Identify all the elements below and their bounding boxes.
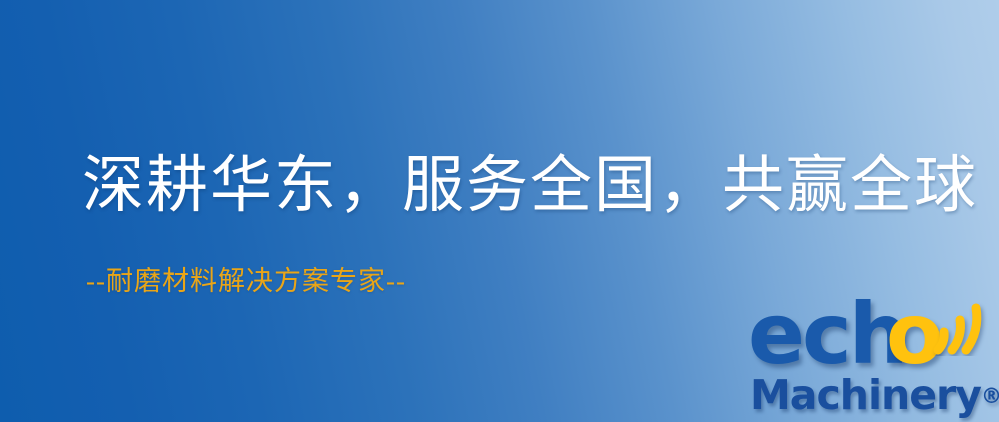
promotional-banner: 深耕华东，服务全国，共赢全球 --耐磨材料解决方案专家-- ech o Mach… — [0, 0, 999, 422]
banner-headline: 深耕华东，服务全国，共赢全球 — [82, 152, 978, 220]
banner-subtitle: --耐磨材料解决方案专家-- — [86, 265, 406, 297]
logo-brand-text: ech — [748, 288, 906, 380]
logo-wordmark-text: Machinery — [750, 371, 981, 419]
signal-waves-icon — [930, 290, 999, 356]
logo-wordmark: Machinery® — [750, 372, 999, 419]
company-logo: ech o Machinery® — [748, 294, 999, 422]
registered-trademark-icon: ® — [981, 384, 999, 408]
